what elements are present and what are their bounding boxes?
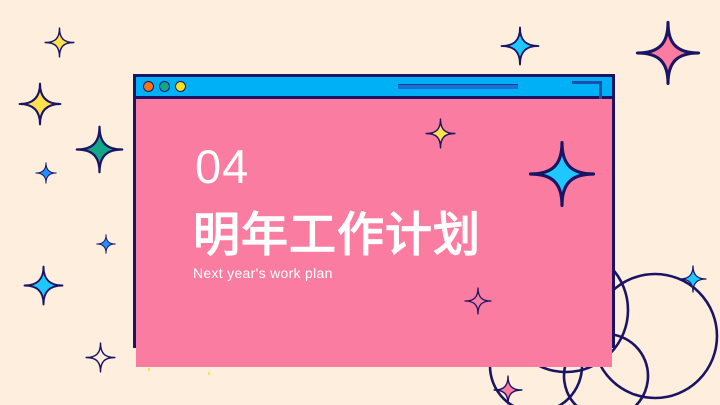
star-blue-top-mid bbox=[500, 26, 540, 66]
slide-canvas: 04 明年工作计划 Next year's work plan bbox=[0, 0, 720, 405]
speck-yellow-b bbox=[208, 372, 210, 375]
window-titlebar bbox=[136, 77, 612, 99]
star-hollow-bottom-left bbox=[85, 342, 116, 373]
window-content: 04 明年工作计划 Next year's work plan bbox=[136, 99, 612, 367]
page-subtitle: Next year's work plan bbox=[193, 265, 593, 282]
browser-window: 04 明年工作计划 Next year's work plan bbox=[133, 74, 615, 348]
slide-text-block: 04 明年工作计划 Next year's work plan bbox=[193, 143, 593, 282]
section-number: 04 bbox=[195, 143, 593, 190]
address-bar[interactable] bbox=[398, 84, 518, 89]
star-hollow-panel bbox=[464, 287, 492, 315]
maximize-corner-icon[interactable] bbox=[572, 81, 602, 99]
star-pink-top-right bbox=[635, 20, 701, 86]
close-dot[interactable] bbox=[143, 81, 154, 92]
minimize-dot[interactable] bbox=[159, 81, 170, 92]
star-yellow-left bbox=[18, 82, 62, 126]
star-blue-mid-left bbox=[23, 265, 64, 306]
page-title: 明年工作计划 bbox=[193, 210, 593, 259]
star-blue-small-left bbox=[35, 162, 57, 184]
speck-yellow-a bbox=[148, 368, 150, 371]
star-yellow-top-left bbox=[44, 27, 75, 58]
maximize-dot[interactable] bbox=[175, 81, 186, 92]
star-teal-left bbox=[75, 125, 124, 174]
star-blue-tiny-left bbox=[96, 234, 116, 254]
